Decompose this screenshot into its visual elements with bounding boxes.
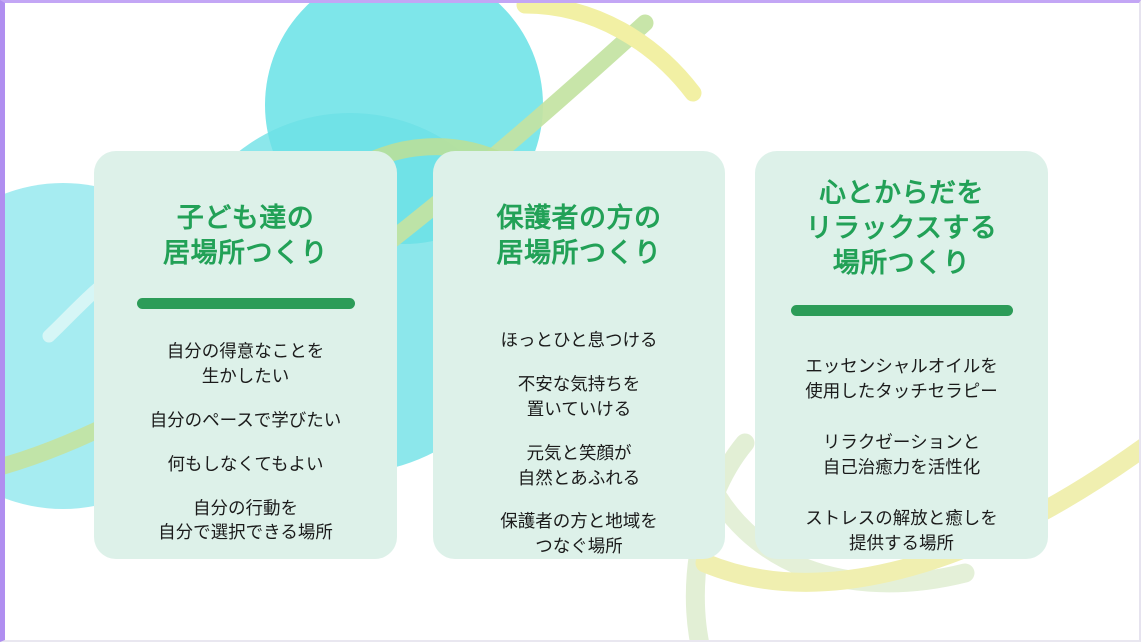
card-title: 心とからだを リラックスする 場所つくり — [806, 176, 998, 281]
card-divider — [137, 298, 355, 309]
card-guardians: 保護者の方の 居場所つくり ほっとひと息つける 不安な気持ちを 置いていける 元… — [433, 151, 725, 559]
list-item: ほっとひと息つける — [433, 328, 725, 353]
cards-row: 子ども達の 居場所つくり 自分の得意なことを 生かしたい 自分のペースで学びたい… — [5, 3, 1141, 642]
list-item: 元気と笑顔が 自然とあふれる — [433, 441, 725, 491]
card-bullet-list: 自分の得意なことを 生かしたい 自分のペースで学びたい 何もしなくてもよい 自分… — [94, 339, 397, 545]
card-divider — [791, 305, 1013, 316]
list-item: 自分の得意なことを 生かしたい — [94, 339, 397, 389]
card-title: 子ども達の 居場所つくり — [163, 201, 328, 271]
card-relax: 心とからだを リラックスする 場所つくり エッセンシャルオイルを 使用したタッチ… — [755, 151, 1048, 559]
slide-canvas: 子ども達の 居場所つくり 自分の得意なことを 生かしたい 自分のペースで学びたい… — [0, 0, 1141, 642]
list-item: 自分のペースで学びたい — [94, 408, 397, 433]
list-item: 不安な気持ちを 置いていける — [433, 372, 725, 422]
list-item: エッセンシャルオイルを 使用したタッチセラピー — [755, 354, 1048, 404]
list-item: 自分の行動を 自分で選択できる場所 — [94, 496, 397, 546]
card-title: 保護者の方の 居場所つくり — [497, 201, 662, 271]
list-item: 何もしなくてもよい — [94, 452, 397, 477]
list-item: リラクゼーションと 自己治癒力を活性化 — [755, 430, 1048, 480]
list-item: 保護者の方と地域を つなぐ場所 — [433, 509, 725, 559]
card-children: 子ども達の 居場所つくり 自分の得意なことを 生かしたい 自分のペースで学びたい… — [94, 151, 397, 559]
card-bullet-list: エッセンシャルオイルを 使用したタッチセラピー リラクゼーションと 自己治癒力を… — [755, 354, 1048, 555]
card-bullet-list: ほっとひと息つける 不安な気持ちを 置いていける 元気と笑顔が 自然とあふれる … — [433, 328, 725, 559]
list-item: ストレスの解放と癒しを 提供する場所 — [755, 506, 1048, 556]
